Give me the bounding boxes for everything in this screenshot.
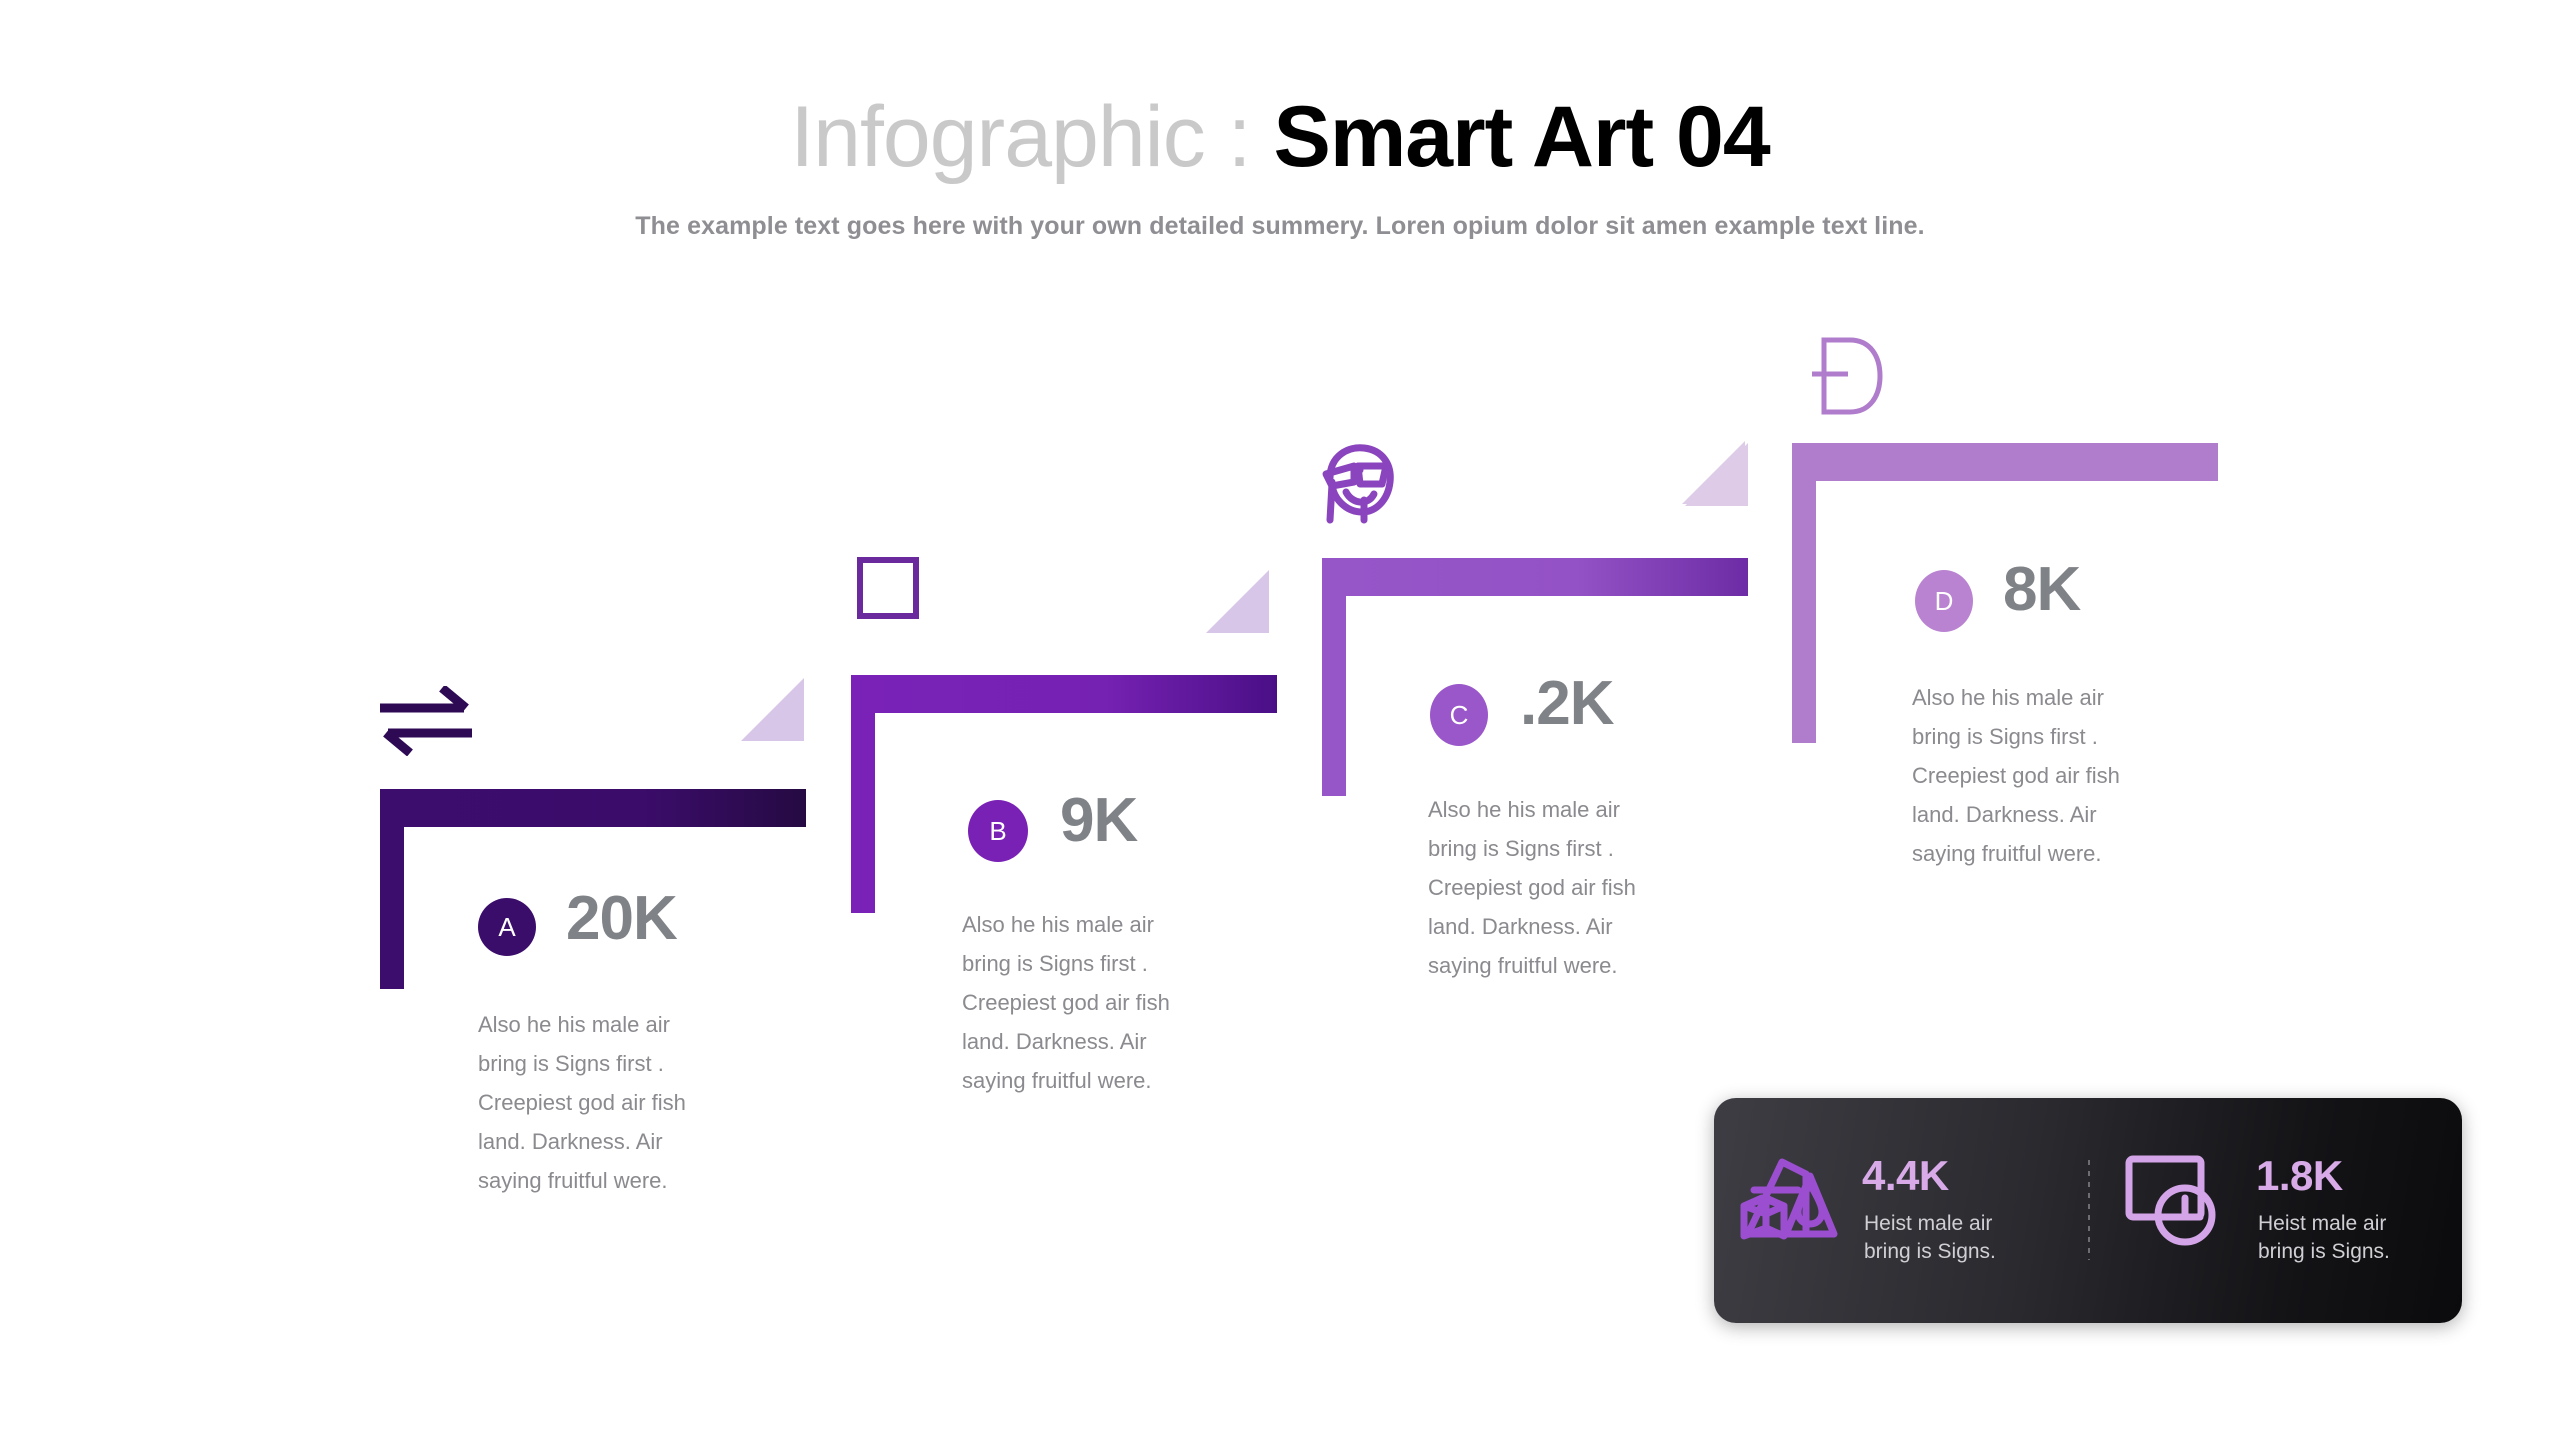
step-badge-letter-d: D xyxy=(1935,586,1954,617)
step-badge-a: A xyxy=(478,898,536,956)
step-badge-d: D xyxy=(1915,570,1973,632)
step-description-c: Also he his male air bring is Signs firs… xyxy=(1428,790,1666,985)
summary-cell-1: 4.4K Heist male air bring is Signs. xyxy=(1714,1098,2088,1323)
square-outline-icon xyxy=(856,556,920,625)
step-badge-c: C xyxy=(1430,684,1488,746)
step-badge-letter-c: C xyxy=(1450,700,1469,731)
exchange-arrows-icon xyxy=(378,686,474,761)
summary-card: 4.4K Heist male air bring is Signs. 1.8K… xyxy=(1714,1098,2462,1323)
face-sunglasses-icon xyxy=(1320,440,1402,529)
step-badge-letter-a: A xyxy=(498,912,515,943)
screen-clock-icon xyxy=(2124,1154,2224,1251)
step-value-d: 8K xyxy=(2003,554,2080,625)
step-description-b: Also he his male air bring is Signs firs… xyxy=(962,905,1200,1100)
page-title-prefix: Infographic : xyxy=(790,89,1273,185)
summary-text-1: Heist male air bring is Signs. xyxy=(1864,1210,2009,1266)
summary-cell-2: 1.8K Heist male air bring is Signs. xyxy=(2092,1098,2462,1323)
summary-value-1: 4.4K xyxy=(1862,1152,1949,1200)
summary-value-2: 1.8K xyxy=(2256,1152,2343,1200)
decorative-triangle-a xyxy=(741,678,804,741)
decorative-triangle-b xyxy=(1206,570,1269,633)
page-title-main: Smart Art 04 xyxy=(1273,89,1769,185)
page-subtitle: The example text goes here with your own… xyxy=(0,212,2560,241)
geometric-shapes-icon xyxy=(1736,1154,1840,1257)
step-value-b: 9K xyxy=(1060,785,1137,856)
step-description-d: Also he his male air bring is Signs firs… xyxy=(1912,678,2150,873)
summary-divider xyxy=(2088,1160,2090,1260)
step-value-a: 20K xyxy=(566,883,677,954)
decorative-triangle-d xyxy=(1685,443,1748,506)
d-stroke-glyph-icon xyxy=(1808,330,1888,437)
summary-text-2: Heist male air bring is Signs. xyxy=(2258,1210,2403,1266)
step-value-c: .2K xyxy=(1520,668,1613,739)
page-title: Infographic : Smart Art 04 xyxy=(0,88,2560,187)
step-description-a: Also he his male air bring is Signs firs… xyxy=(478,1005,716,1200)
step-badge-b: B xyxy=(968,800,1028,862)
step-badge-letter-b: B xyxy=(989,816,1006,847)
